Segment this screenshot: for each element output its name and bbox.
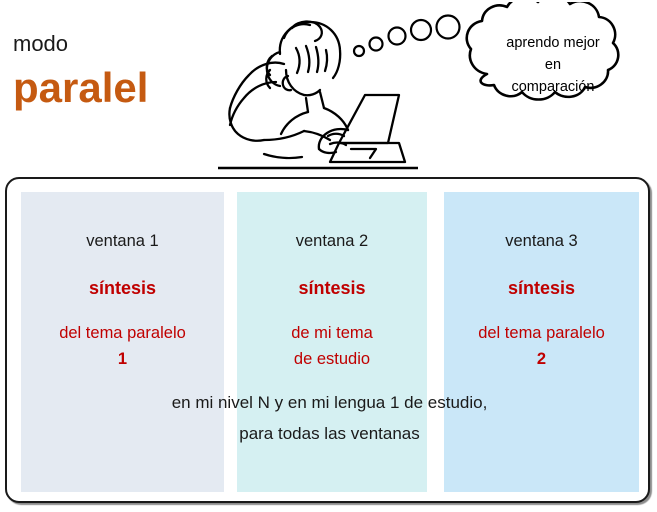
window-column-2-title: ventana 2 [237,232,427,251]
window-column-3-heading: síntesis [444,278,639,299]
window-column-2-heading: síntesis [237,278,427,299]
window-column-2-body: de mi tema de estudio [237,320,427,373]
window-column-2[interactable]: ventana 2 síntesis de mi tema de estudio [237,192,427,492]
window-column-3-title: ventana 3 [444,232,639,251]
header-banner: modo paralel [0,0,657,175]
window-column-1-heading: síntesis [21,278,224,299]
window-column-2-body-line-1: de mi tema [291,324,373,342]
window-column-1-body: del tema paralelo 1 [21,320,224,373]
window-column-1-body-line-2: 1 [118,350,127,368]
window-column-1[interactable]: ventana 1 síntesis del tema paralelo 1 [21,192,224,492]
window-column-1-body-line-1: del tema paralelo [59,324,186,342]
window-column-2-body-line-2: de estudio [294,350,370,368]
window-column-3-body: del tema paralelo 2 [444,320,639,373]
window-column-3[interactable]: ventana 3 síntesis del tema paralelo 2 [444,192,639,492]
thought-cloud-line-2: en [545,57,561,73]
thought-cloud-line-1: aprendo mejor [506,35,600,51]
mode-title: paralel [13,67,148,109]
windows-panel: ventana 1 síntesis del tema paralelo 1 v… [5,177,650,503]
window-column-3-body-line-2: 2 [537,350,546,368]
thought-cloud-text: aprendo mejor en comparación [470,32,636,98]
thought-cloud-line-3: comparación [511,79,594,95]
window-column-3-body-line-1: del tema paralelo [478,324,605,342]
mode-label: modo [13,33,68,55]
window-column-1-title: ventana 1 [21,232,224,251]
